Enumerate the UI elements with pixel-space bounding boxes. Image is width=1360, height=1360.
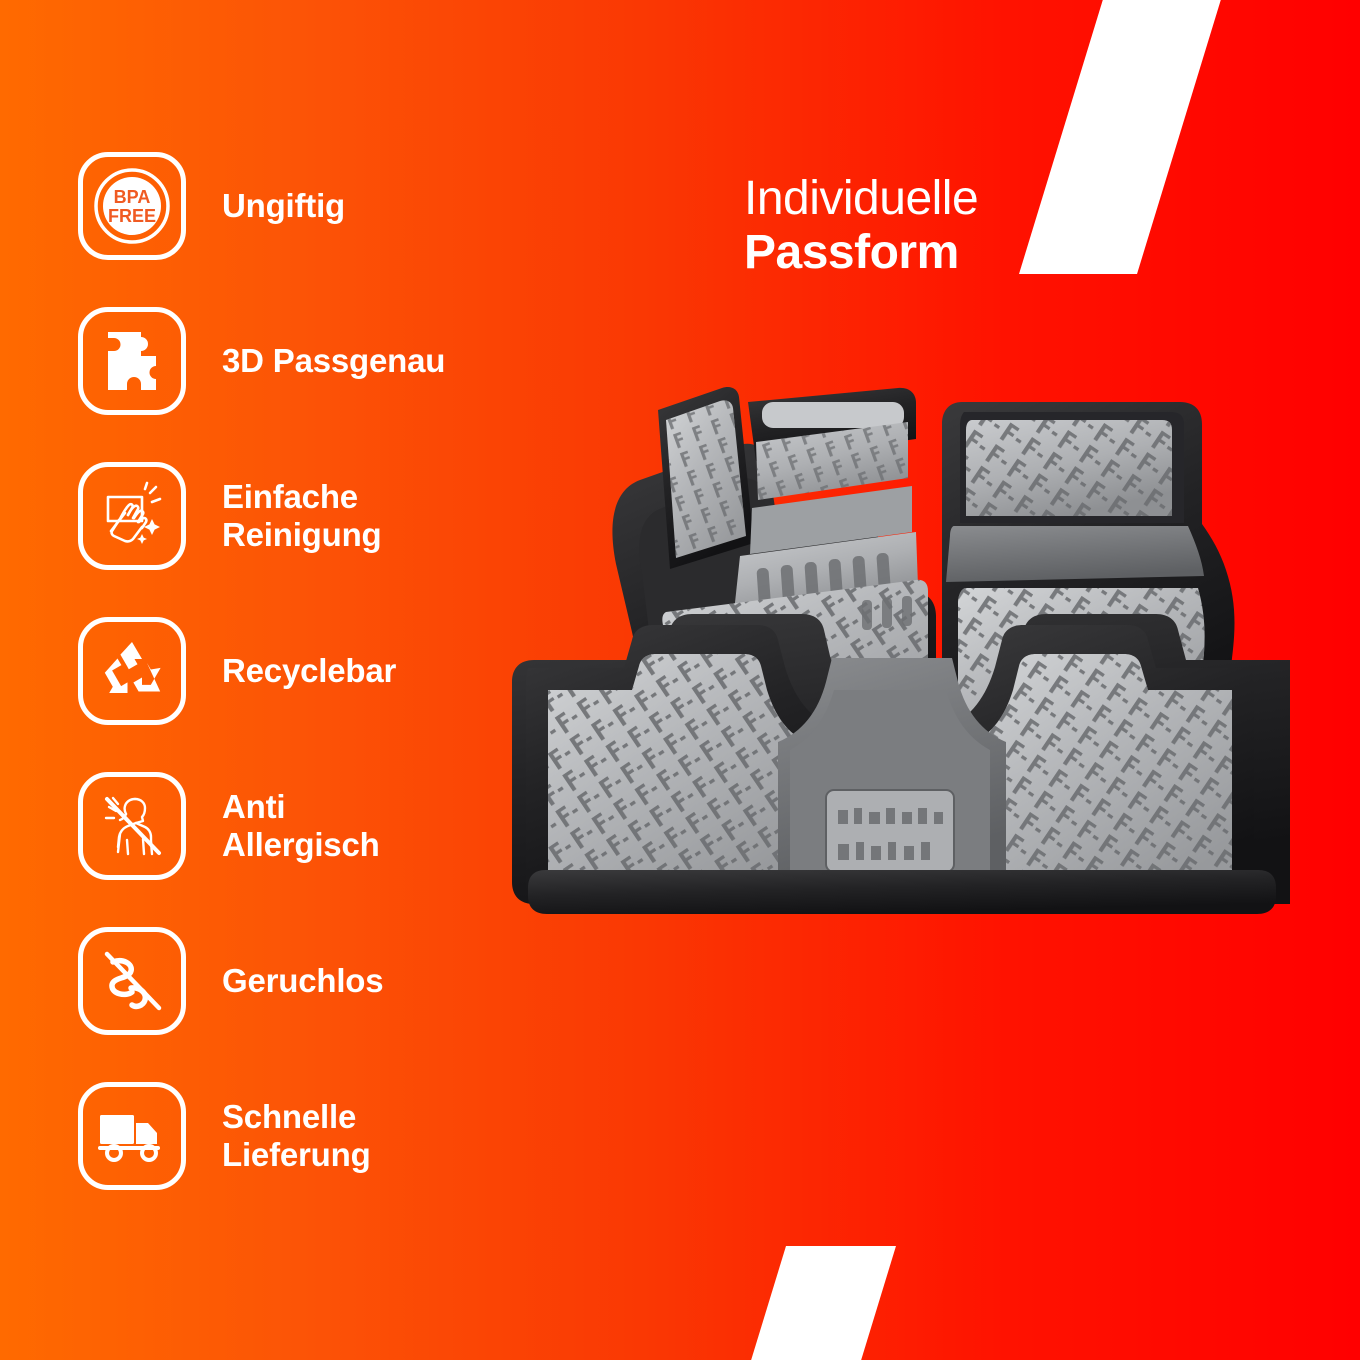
bpa-badge-line-1: BPA: [114, 187, 151, 207]
headline: Individuelle Passform: [744, 172, 978, 280]
feature-label: Einfache Reinigung: [222, 462, 522, 570]
headline-line-1: Individuelle: [744, 172, 978, 226]
puzzle-piece-icon: [78, 307, 186, 415]
feature-label: Geruchlos: [222, 927, 522, 1035]
decorative-slash-top: [1019, 0, 1222, 274]
feature-item-geruchlos: Geruchlos: [78, 927, 518, 1082]
passenger-upper-panel: [960, 412, 1184, 523]
feature-label: 3D Passgenau: [222, 307, 522, 415]
anti-allergy-icon: [78, 772, 186, 880]
feature-item-3d-passgenau: 3D Passgenau: [78, 307, 518, 462]
feature-item-ungiftig: BPA FREE Ungiftig: [78, 152, 518, 307]
rear-one-piece-mat: [512, 614, 1290, 914]
no-odour-icon: [78, 927, 186, 1035]
feature-item-anti-allergisch: Anti Allergisch: [78, 772, 518, 927]
bpa-badge-line-2: FREE: [108, 206, 156, 226]
feature-list: BPA FREE Ungiftig 3D Passgenau: [78, 152, 518, 1237]
feature-item-einfache-reinigung: Einfache Reinigung: [78, 462, 518, 617]
feature-label: Anti Allergisch: [222, 772, 522, 880]
car-floor-mat-set: [490, 350, 1290, 1180]
feature-label: Ungiftig: [222, 152, 522, 260]
feature-item-schnelle-lieferung: Schnelle Lieferung: [78, 1082, 518, 1237]
delivery-truck-icon: [78, 1082, 186, 1190]
decorative-slash-bottom: [749, 1246, 896, 1360]
easy-cleaning-icon: [78, 462, 186, 570]
infographic-canvas: Individuelle Passform BPA FREE Ungiftig: [0, 0, 1360, 1360]
headline-line-2: Passform: [744, 226, 978, 280]
feature-label: Schnelle Lieferung: [222, 1082, 522, 1190]
feature-label: Recyclebar: [222, 617, 522, 725]
recycle-icon: [78, 617, 186, 725]
feature-item-recyclebar: Recyclebar: [78, 617, 518, 772]
dead-pedal-flap: [658, 387, 754, 569]
upper-shelf: [748, 388, 916, 500]
bpa-free-icon: BPA FREE: [78, 152, 186, 260]
